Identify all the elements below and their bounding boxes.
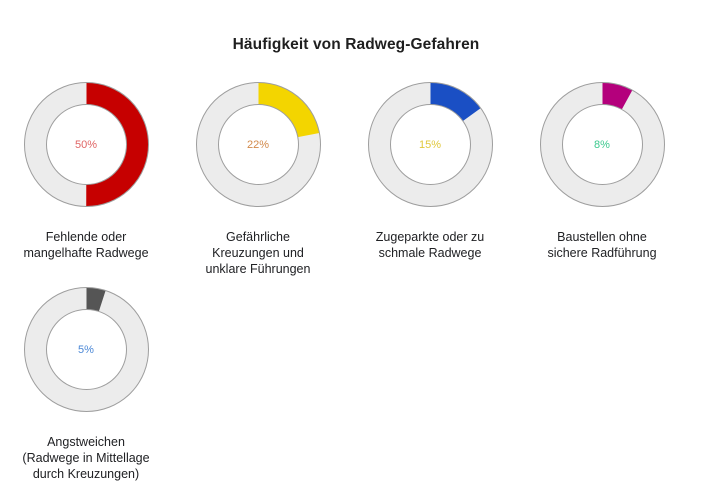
donut-svg <box>530 72 675 217</box>
donut-inner-outline <box>562 105 642 185</box>
donut-ring: 8% <box>530 72 675 217</box>
donut-track <box>551 94 653 196</box>
donut-inner-outline <box>46 105 126 185</box>
donut-chart-item: 50%Fehlende oder mangelhafte Radwege <box>0 72 172 261</box>
donut-caption: Angstweichen (Radwege in Mittellage durc… <box>2 434 170 482</box>
donut-inner-outline <box>218 105 298 185</box>
donut-chart-grid: 50%Fehlende oder mangelhafte Radwege22%G… <box>0 72 712 482</box>
donut-svg <box>186 72 331 217</box>
donut-caption: Zugeparkte oder zu schmale Radwege <box>346 229 514 261</box>
donut-svg <box>14 277 159 422</box>
donut-track <box>35 299 137 401</box>
donut-chart-item: 8%Baustellen ohne sichere Radführung <box>516 72 688 261</box>
donut-svg <box>14 72 159 217</box>
donut-caption: Gefährliche Kreuzungen und unklare Führu… <box>174 229 342 277</box>
donut-chart-item: 5%Angstweichen (Radwege in Mittellage du… <box>0 277 172 482</box>
donut-caption: Fehlende oder mangelhafte Radwege <box>2 229 170 261</box>
donut-ring: 5% <box>14 277 159 422</box>
donut-svg <box>358 72 503 217</box>
donut-ring: 22% <box>186 72 331 217</box>
donut-chart-item: 22%Gefährliche Kreuzungen und unklare Fü… <box>172 72 344 277</box>
donut-caption: Baustellen ohne sichere Radführung <box>518 229 686 261</box>
donut-inner-outline <box>390 105 470 185</box>
donut-chart-item: 15%Zugeparkte oder zu schmale Radwege <box>344 72 516 261</box>
donut-ring: 50% <box>14 72 159 217</box>
donut-inner-outline <box>46 310 126 390</box>
donut-ring: 15% <box>358 72 503 217</box>
chart-title: Häufigkeit von Radweg-Gefahren <box>0 36 712 54</box>
